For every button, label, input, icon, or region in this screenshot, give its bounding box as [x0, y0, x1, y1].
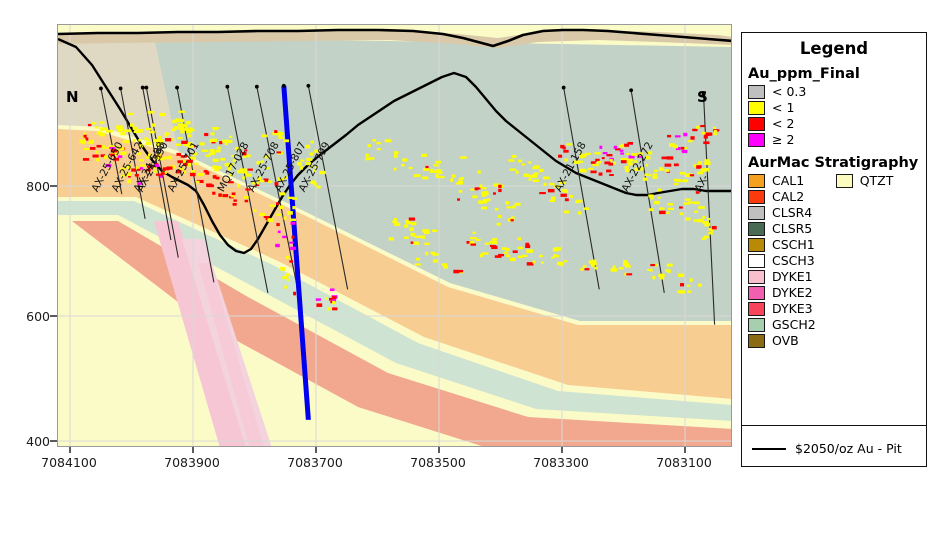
assay-interval	[491, 246, 497, 249]
assay-interval	[606, 170, 611, 173]
assay-interval	[594, 267, 597, 270]
assay-interval	[665, 164, 672, 167]
assay-interval	[401, 164, 404, 167]
assay-interval	[534, 172, 539, 174]
assay-interval	[551, 257, 554, 259]
assay-interval	[629, 155, 635, 158]
assay-interval	[332, 296, 336, 299]
assay-interval	[204, 133, 208, 136]
assay-interval	[84, 135, 87, 138]
assay-interval	[237, 184, 240, 188]
assay-interval	[283, 216, 286, 219]
assay-interval	[564, 260, 567, 262]
assay-interval	[280, 178, 284, 181]
legend-strat-column-2: QTZT	[830, 173, 894, 349]
drill-collar-marker	[306, 84, 310, 88]
legend-strat-item: QTZT	[836, 173, 894, 188]
assay-interval	[667, 269, 671, 273]
assay-interval	[104, 128, 107, 130]
assay-interval	[188, 163, 192, 166]
assay-interval	[191, 170, 195, 173]
legend-strat-classes: CAL1CAL2CLSR4CLSR5CSCH1CSCH3DYKE1DYKE2DY…	[742, 173, 926, 349]
assay-interval	[232, 192, 236, 195]
assay-interval	[657, 188, 661, 191]
assay-interval	[471, 189, 475, 191]
assay-interval	[275, 244, 280, 247]
assay-interval	[289, 242, 294, 244]
assay-interval	[714, 132, 717, 135]
assay-interval	[218, 166, 222, 169]
assay-interval	[491, 241, 497, 244]
assay-interval	[140, 144, 143, 147]
assay-interval	[597, 161, 601, 163]
legend-swatch	[748, 222, 765, 236]
assay-interval	[127, 166, 130, 169]
assay-interval	[712, 226, 717, 229]
assay-interval	[680, 283, 684, 286]
drill-collar-marker	[175, 86, 179, 90]
assay-interval	[515, 203, 521, 206]
legend-au-item: < 0.3	[748, 84, 926, 99]
drill-collar-marker	[119, 87, 123, 91]
assay-interval	[186, 121, 190, 124]
assay-interval	[466, 241, 469, 244]
assay-interval	[510, 258, 516, 261]
assay-interval	[268, 181, 272, 183]
assay-interval	[517, 247, 522, 249]
assay-interval	[284, 139, 290, 142]
assay-interval	[131, 168, 136, 171]
assay-interval	[394, 168, 397, 171]
assay-interval	[315, 166, 318, 168]
legend-strat-item: CAL1	[748, 173, 816, 188]
assay-interval	[554, 185, 560, 188]
assay-interval	[248, 169, 253, 171]
legend-swatch	[748, 318, 765, 332]
assay-interval	[257, 179, 261, 182]
assay-interval	[261, 180, 264, 182]
assay-interval	[470, 237, 477, 239]
assay-interval	[165, 138, 171, 141]
assay-interval	[623, 260, 627, 264]
assay-interval	[92, 122, 97, 124]
assay-interval	[702, 238, 707, 240]
assay-interval	[635, 168, 641, 171]
assay-interval	[638, 152, 642, 155]
assay-interval	[421, 236, 425, 239]
assay-interval	[228, 181, 234, 183]
assay-interval	[678, 274, 684, 277]
assay-interval	[698, 161, 702, 164]
assay-interval	[116, 125, 122, 129]
assay-interval	[411, 222, 416, 225]
assay-interval	[211, 132, 215, 135]
legend-swatch	[748, 174, 765, 188]
assay-interval	[694, 210, 698, 213]
assay-interval	[621, 160, 627, 163]
drill-collar-marker	[141, 86, 145, 90]
assay-interval	[442, 263, 447, 266]
assay-interval	[187, 135, 191, 138]
assay-interval	[184, 128, 189, 131]
x-axis-tick-7083500: 7083500	[398, 455, 478, 470]
assay-interval	[202, 150, 208, 152]
assay-interval	[675, 135, 681, 137]
direction-label-north: N	[66, 88, 79, 106]
assay-interval	[231, 155, 236, 157]
drill-collar-marker	[629, 88, 633, 92]
assay-interval	[475, 188, 479, 191]
assay-interval	[97, 145, 102, 148]
assay-interval	[187, 160, 193, 163]
assay-interval	[694, 202, 700, 205]
assay-interval	[439, 176, 444, 178]
assay-interval	[533, 179, 539, 182]
assay-interval	[329, 298, 332, 301]
assay-interval	[528, 161, 531, 163]
assay-interval	[580, 169, 585, 172]
assay-interval	[244, 196, 249, 199]
assay-interval	[527, 262, 534, 265]
assay-interval	[127, 180, 131, 184]
assay-interval	[484, 191, 487, 193]
assay-interval	[579, 161, 583, 163]
assay-interval	[206, 183, 212, 186]
assay-interval	[443, 266, 448, 269]
assay-interval	[424, 232, 427, 234]
assay-interval	[683, 133, 687, 137]
assay-interval	[120, 132, 125, 135]
assay-interval	[687, 285, 690, 287]
assay-interval	[563, 150, 568, 153]
assay-interval	[687, 291, 691, 293]
assay-interval	[287, 211, 293, 215]
assay-interval	[80, 140, 87, 143]
assay-interval	[549, 200, 555, 202]
assay-interval	[148, 111, 155, 114]
assay-interval	[290, 219, 296, 222]
assay-interval	[138, 139, 141, 141]
assay-interval	[376, 142, 380, 144]
assay-interval	[574, 161, 579, 164]
assay-interval	[286, 256, 289, 259]
assay-interval	[506, 206, 511, 208]
assay-interval	[316, 303, 322, 307]
legend-label: CAL1	[772, 173, 804, 188]
assay-interval	[181, 155, 187, 158]
assay-interval	[146, 139, 149, 142]
legend-section-stratigraphy: AurMac Stratigraphy	[748, 155, 926, 171]
assay-interval	[404, 225, 408, 228]
assay-interval	[216, 177, 220, 180]
assay-interval	[189, 157, 195, 159]
assay-interval	[292, 197, 297, 200]
assay-interval	[459, 190, 462, 193]
assay-interval	[613, 265, 616, 268]
assay-interval	[219, 141, 222, 144]
assay-interval	[103, 147, 110, 149]
assay-interval	[643, 178, 648, 181]
assay-interval	[369, 157, 374, 159]
assay-interval	[594, 152, 600, 154]
assay-interval	[583, 207, 589, 210]
assay-interval	[213, 159, 219, 162]
assay-interval	[658, 197, 661, 199]
legend-label: DYKE2	[772, 285, 813, 300]
assay-interval	[543, 177, 550, 180]
assay-interval	[278, 135, 281, 137]
assay-interval	[528, 178, 532, 180]
assay-interval	[305, 145, 310, 149]
assay-interval	[704, 162, 710, 165]
legend-swatch	[748, 85, 765, 99]
assay-interval	[665, 169, 670, 172]
assay-interval	[281, 269, 286, 271]
assay-interval	[289, 260, 293, 262]
assay-interval	[137, 152, 141, 155]
x-tick-mark-7084100	[69, 447, 71, 453]
assay-interval	[153, 139, 157, 142]
assay-interval	[690, 278, 693, 282]
assay-interval	[235, 147, 239, 149]
assay-interval	[146, 142, 152, 145]
assay-interval	[177, 137, 182, 139]
assay-interval	[190, 173, 196, 177]
assay-interval	[614, 146, 617, 149]
assay-interval	[292, 206, 296, 209]
assay-interval	[684, 147, 687, 149]
assay-interval	[674, 179, 679, 182]
assay-interval	[559, 181, 565, 184]
assay-interval	[316, 298, 321, 300]
assay-interval	[279, 192, 285, 195]
assay-interval	[274, 130, 277, 133]
assay-interval	[518, 160, 522, 163]
assay-interval	[697, 172, 703, 175]
assay-interval	[510, 169, 516, 171]
assay-interval	[190, 127, 193, 129]
assay-interval	[242, 152, 246, 155]
assay-interval	[585, 268, 590, 270]
assay-interval	[658, 274, 664, 277]
assay-interval	[181, 124, 185, 126]
legend-label: CLSR4	[772, 205, 812, 220]
assay-interval	[495, 208, 499, 210]
assay-interval	[414, 174, 421, 177]
assay-interval	[293, 292, 296, 296]
legend-au-classes: < 0.3< 1< 2≥ 2	[742, 84, 926, 147]
legend-label: QTZT	[860, 173, 894, 188]
assay-interval	[210, 149, 215, 152]
legend-swatch	[748, 206, 765, 220]
assay-interval	[698, 284, 702, 286]
assay-interval	[425, 166, 428, 168]
legend-swatch	[836, 174, 853, 188]
assay-interval	[599, 173, 603, 176]
assay-interval	[706, 132, 713, 135]
assay-interval	[472, 195, 477, 198]
assay-interval	[557, 262, 562, 265]
assay-interval	[564, 210, 569, 213]
x-tick-mark-7083700	[315, 447, 317, 453]
y-axis-tick-400: 400	[6, 434, 50, 449]
assay-interval	[220, 158, 225, 161]
assay-interval	[628, 163, 633, 166]
assay-interval	[591, 161, 596, 164]
legend-label: < 0.3	[772, 84, 806, 99]
assay-interval	[140, 164, 146, 166]
assay-interval	[606, 154, 612, 156]
assay-interval	[579, 153, 582, 156]
assay-interval	[696, 191, 700, 194]
assay-interval	[104, 155, 108, 158]
legend-strat-item: GSCH2	[748, 317, 816, 332]
assay-interval	[133, 127, 138, 130]
assay-interval	[645, 156, 650, 160]
assay-interval	[394, 218, 397, 220]
assay-interval	[682, 150, 687, 153]
assay-interval	[682, 179, 688, 182]
assay-interval	[696, 165, 701, 169]
assay-interval	[163, 168, 166, 171]
legend-label: CAL2	[772, 189, 804, 204]
assay-interval	[620, 152, 624, 154]
assay-interval	[424, 229, 428, 231]
assay-interval	[165, 134, 168, 137]
legend-swatch	[748, 190, 765, 204]
assay-interval	[645, 164, 648, 167]
assay-interval	[148, 156, 151, 158]
x-axis-tick-7084100: 7084100	[29, 455, 109, 470]
assay-interval	[212, 127, 219, 129]
assay-interval	[409, 218, 415, 221]
assay-interval	[702, 216, 705, 219]
assay-interval	[604, 161, 610, 164]
assay-interval	[188, 142, 193, 145]
assay-interval	[566, 143, 572, 145]
assay-interval	[409, 227, 413, 231]
assay-interval	[377, 148, 381, 150]
assay-interval	[541, 262, 544, 264]
assay-interval	[276, 223, 279, 226]
assay-interval	[413, 242, 419, 245]
x-tick-mark-7083300	[561, 447, 563, 453]
direction-label-south: S	[697, 88, 708, 106]
assay-interval	[554, 247, 560, 251]
assay-interval	[88, 124, 91, 126]
assay-interval	[667, 135, 671, 138]
assay-interval	[137, 169, 141, 171]
assay-interval	[265, 155, 270, 158]
assay-interval	[421, 154, 427, 157]
assay-interval	[690, 174, 694, 176]
assay-interval	[211, 139, 217, 142]
assay-interval	[212, 192, 215, 195]
assay-interval	[106, 130, 113, 133]
assay-interval	[512, 206, 516, 209]
assay-interval	[704, 168, 709, 172]
legend-au-item: ≥ 2	[748, 132, 926, 147]
assay-interval	[505, 201, 509, 204]
assay-interval	[528, 175, 533, 177]
assay-interval	[317, 186, 321, 189]
assay-interval	[216, 150, 221, 153]
assay-interval	[158, 139, 164, 143]
assay-interval	[92, 155, 98, 158]
assay-interval	[389, 237, 394, 240]
assay-interval	[452, 175, 455, 178]
assay-interval	[109, 147, 115, 149]
assay-interval	[209, 153, 212, 156]
assay-interval	[588, 168, 594, 170]
drill-collar-marker	[144, 86, 148, 90]
assay-interval	[688, 140, 693, 142]
assay-interval	[561, 189, 567, 191]
assay-interval	[506, 254, 510, 257]
assay-interval	[154, 170, 158, 172]
legend-swatch	[748, 117, 765, 131]
assay-interval	[435, 169, 441, 172]
assay-interval	[533, 165, 539, 168]
assay-interval	[610, 159, 613, 162]
assay-interval	[576, 200, 582, 203]
pit-line-swatch	[752, 448, 786, 450]
assay-interval	[539, 169, 543, 172]
assay-interval	[477, 171, 480, 174]
assay-interval	[183, 171, 186, 174]
assay-interval	[659, 211, 666, 214]
assay-interval	[582, 154, 587, 157]
assay-interval	[432, 230, 437, 232]
legend-label: DYKE1	[772, 269, 813, 284]
y-tick-mark-800	[50, 185, 57, 187]
assay-interval	[511, 216, 515, 218]
assay-interval	[265, 167, 270, 169]
y-axis-tick-800: 800	[6, 179, 50, 194]
assay-interval	[613, 162, 616, 165]
assay-interval	[196, 181, 199, 184]
assay-interval	[522, 255, 528, 257]
assay-interval	[424, 243, 430, 245]
assay-interval	[640, 167, 643, 170]
assay-interval	[580, 268, 583, 270]
assay-interval	[385, 139, 392, 142]
assay-interval	[564, 159, 568, 162]
legend-strat-item: OVB	[748, 333, 816, 348]
assay-interval	[668, 208, 674, 210]
assay-interval	[497, 223, 501, 226]
assay-interval	[277, 151, 282, 153]
legend-strat-item: CSCH3	[748, 253, 816, 268]
assay-interval	[578, 211, 582, 214]
assay-interval	[592, 260, 596, 264]
assay-interval	[118, 130, 121, 132]
assay-interval	[282, 236, 286, 238]
assay-interval	[626, 153, 629, 155]
x-tick-mark-7083900	[192, 447, 194, 453]
assay-interval	[148, 165, 153, 168]
assay-interval	[192, 153, 197, 156]
legend-label: CLSR5	[772, 221, 812, 236]
legend-swatch	[748, 133, 765, 147]
assay-interval	[168, 156, 172, 159]
assay-interval	[261, 160, 264, 163]
assay-interval	[457, 270, 463, 272]
assay-interval	[626, 273, 632, 275]
assay-interval	[662, 157, 669, 160]
assay-interval	[257, 161, 261, 164]
assay-interval	[332, 307, 337, 310]
